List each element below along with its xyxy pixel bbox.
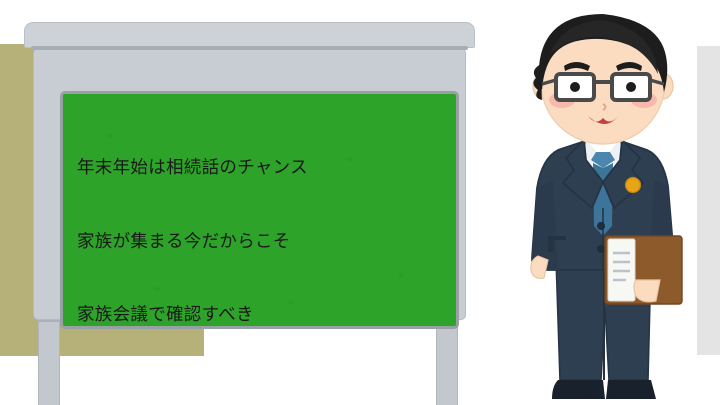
blackboard-surface: 年末年始は相続話のチャンス 家族が集まる今だからこそ 家族会議で確認すべき ５つ… — [60, 91, 459, 329]
businessman-illustration — [508, 8, 698, 405]
eye-right — [626, 82, 636, 92]
eye-left — [570, 82, 580, 92]
lapel-badge-icon — [626, 178, 641, 193]
blackboard-top-cap — [24, 22, 475, 48]
headline-line-2: 家族が集まる今だからこそ — [77, 230, 456, 255]
slide-canvas: 年末年始は相続話のチャンス 家族が集まる今だからこそ 家族会議で確認すべき ５つ… — [0, 0, 720, 405]
left-hand — [531, 256, 548, 278]
right-hand — [634, 280, 660, 302]
headline-line-1: 年末年始は相続話のチャンス — [77, 156, 456, 181]
shoes-group — [552, 380, 656, 399]
headline-line-3: 家族会議で確認すべき — [77, 303, 456, 328]
blackboard-leg-left — [38, 312, 60, 405]
blackboard-top-cap-shadow — [31, 46, 468, 50]
blackboard-text-block: 年末年始は相続話のチャンス 家族が集まる今だからこそ 家族会議で確認すべき ５つ… — [63, 94, 456, 329]
blackboard-frame: 年末年始は相続話のチャンス 家族が集まる今だからこそ 家族会議で確認すべき ５つ… — [33, 48, 466, 320]
right-side-panel — [697, 46, 720, 355]
blackboard: 年末年始は相続話のチャンス 家族が集まる今だからこそ 家族会議で確認すべき ５つ… — [24, 22, 475, 395]
